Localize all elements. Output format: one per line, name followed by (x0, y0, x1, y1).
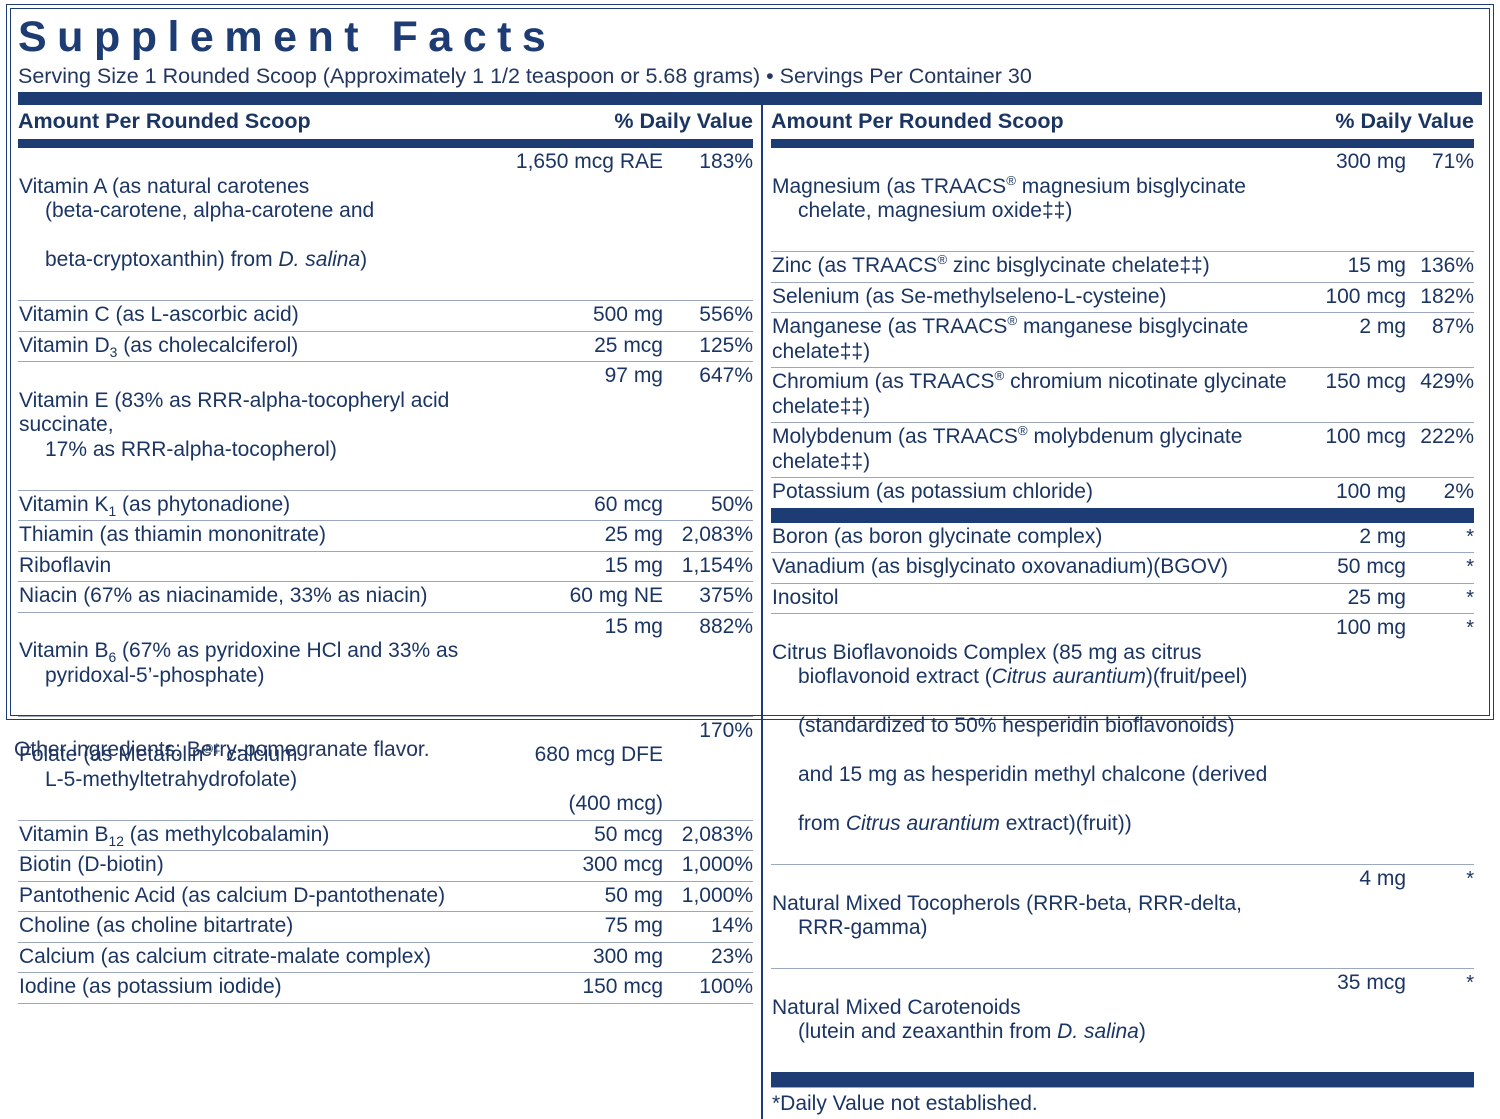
nutrient-amount: 300 mg (1300, 150, 1406, 175)
nutrient-dv: 182% (1406, 285, 1474, 310)
table-row: Vitamin B6 (67% as pyridoxine HCl and 33… (18, 612, 753, 716)
nutrient-amount: 25 mg (507, 523, 663, 548)
nutrient-name-line1: Vitamin A (as natural carotenes (19, 175, 309, 198)
section-rule-middle (771, 508, 1474, 523)
left-column: Amount Per Rounded Scoop % Daily Value V… (18, 105, 753, 1119)
label-outer-frame: Supplement Facts Serving Size 1 Rounded … (6, 4, 1494, 720)
nutrient-dv: 2,083% (663, 523, 753, 548)
nutrient-name-line4: and 15 mg as hesperidin methyl chalcone … (772, 763, 1300, 788)
name-pre: Zinc (as TRAACS (772, 254, 937, 277)
table-row: Magnesium (as TRAACS® magnesium bisglyci… (771, 148, 1474, 251)
line2-post: )(fruit/peel) (1146, 665, 1248, 688)
nutrient-dv: 375% (663, 584, 753, 609)
nutrient-dv: 23% (663, 945, 753, 970)
nutrient-amount: 4 mg (1300, 867, 1406, 892)
nutrient-name-line1: Magnesium (as TRAACS (772, 175, 1006, 198)
nutrient-amount: 100 mg (1300, 480, 1406, 505)
nutrient-dv: 882% (663, 615, 753, 640)
other-ingredients-line: Other ingredients: Berry-pomegranate fla… (14, 737, 430, 763)
table-row: Chromium (as TRAACS® chromium nicotinate… (771, 367, 1474, 422)
nutrient-name: Chromium (as TRAACS® chromium nicotinate… (771, 370, 1300, 419)
table-row: Riboflavin 15 mg 1,154% (18, 551, 753, 582)
table-row: Potassium (as potassium chloride) 100 mg… (771, 477, 1474, 508)
table-row: Zinc (as TRAACS® zinc bisglycinate chela… (771, 251, 1474, 282)
nutrient-dv: 1,154% (663, 554, 753, 579)
table-row: Niacin (67% as niacinamide, 33% as niaci… (18, 581, 753, 612)
nutrient-dv: 125% (663, 334, 753, 359)
nutrient-name: Vitamin B6 (67% as pyridoxine HCl and 33… (18, 615, 507, 713)
label-inner-frame: Supplement Facts Serving Size 1 Rounded … (10, 8, 1490, 716)
table-row: Vitamin C (as L-ascorbic acid) 500 mg 55… (18, 300, 753, 331)
line5-italic: Citrus aurantium (846, 812, 1000, 835)
table-row: Manganese (as TRAACS® manganese bisglyci… (771, 312, 1474, 367)
nutrient-name: Thiamin (as thiamin mononitrate) (18, 523, 507, 548)
right-column-header: Amount Per Rounded Scoop % Daily Value (771, 105, 1474, 139)
name-superscript: ® (937, 252, 947, 267)
line5-pre: from (798, 812, 846, 835)
name-post: (as phytonadione) (116, 493, 290, 516)
nutrient-name: Vitamin C (as L-ascorbic acid) (18, 303, 507, 328)
section-rule-bottom (771, 1072, 1474, 1087)
nutrient-amount: 15 mg (507, 615, 663, 640)
nutrient-amount: 50 mcg (507, 823, 663, 848)
nutrient-name: Choline (as choline bitartrate) (18, 914, 507, 939)
table-row: Thiamin (as thiamin mononitrate) 25 mg 2… (18, 520, 753, 551)
name-pre: Vitamin D (19, 334, 110, 357)
nutrient-amount: 2 mg (1300, 525, 1406, 550)
nutrient-dv: 71% (1406, 150, 1474, 175)
nutrient-dv: 1,000% (663, 884, 753, 909)
nutrient-name-line1: Citrus Bioflavonoids Complex (85 mg as c… (772, 641, 1202, 664)
page-title: Supplement Facts (18, 9, 1482, 63)
table-row: Vitamin E (83% as RRR-alpha-tocopheryl a… (18, 361, 753, 490)
nutrient-amount: 300 mg (507, 945, 663, 970)
header-rule-top (18, 92, 1482, 105)
nutrient-name: Riboflavin (18, 554, 507, 579)
line2-italic: Citrus aurantium (992, 665, 1146, 688)
nutrient-name-line2: (beta-carotene, alpha-carotene and (19, 199, 507, 224)
nutrient-dv: 2,083% (663, 823, 753, 848)
right-header-dv-label: % Daily Value (1335, 111, 1474, 132)
table-row: Calcium (as calcium citrate-malate compl… (18, 942, 753, 973)
name-line1-post: magnesium bisglycinate (1016, 175, 1246, 198)
nutrient-name: Vanadium (as bisglycinato oxovanadium)(B… (771, 555, 1300, 580)
nutrient-amount: 97 mg (507, 364, 663, 389)
line3-pre: beta-cryptoxanthin) from (45, 248, 278, 271)
nutrient-dv: 222% (1406, 425, 1474, 450)
name-pre: Chromium (as TRAACS (772, 370, 995, 393)
left-header-amount-label: Amount Per Rounded Scoop (18, 111, 311, 132)
nutrient-amount: 2 mg (1300, 315, 1406, 340)
nutrient-name-line1: Natural Mixed Carotenoids (772, 996, 1021, 1019)
table-row: Inositol 25 mg * (771, 583, 1474, 614)
nutrient-amount: 15 mg (1300, 254, 1406, 279)
line2-pre: bioflavonoid extract ( (798, 665, 992, 688)
nutrient-name: Natural Mixed Carotenoids (lutein and ze… (771, 971, 1300, 1069)
table-row: Choline (as choline bitartrate) 75 mg 14… (18, 911, 753, 942)
name-post: zinc bisglycinate chelate‡‡) (947, 254, 1210, 277)
table-row: Molybdenum (as TRAACS® molybdenum glycin… (771, 422, 1474, 477)
table-row: Biotin (D-biotin) 300 mcg 1,000% (18, 850, 753, 881)
nutrient-name: Zinc (as TRAACS® zinc bisglycinate chela… (771, 254, 1300, 279)
table-row: Iodine (as potassium iodide) 150 mcg 100… (18, 972, 753, 1003)
nutrient-name: Boron (as boron glycinate complex) (771, 525, 1300, 550)
supplement-facts-label: Supplement Facts Serving Size 1 Rounded … (0, 0, 1500, 769)
nutrient-name: Potassium (as potassium chloride) (771, 480, 1300, 505)
nutrient-amount: 50 mg (507, 884, 663, 909)
left-column-header: Amount Per Rounded Scoop % Daily Value (18, 105, 753, 139)
nutrient-name: Vitamin B12 (as methylcobalamin) (18, 823, 507, 848)
nutrient-amount: 680 mcg DFE (400 mcg) (507, 719, 663, 817)
name-subscript: 12 (109, 833, 124, 849)
right-header-rule (771, 139, 1474, 148)
nutrient-name-line2: 17% as RRR-alpha-tocopherol) (19, 438, 507, 463)
nutrient-amount: 500 mg (507, 303, 663, 328)
nutrient-amount: 100 mcg (1300, 285, 1406, 310)
nutrient-amount: 50 mcg (1300, 555, 1406, 580)
nutrient-name-line2: bioflavonoid extract (Citrus aurantium)(… (772, 665, 1300, 690)
nutrient-name-line3: beta-cryptoxanthin) from D. salina) (19, 248, 507, 273)
nutrient-amount: 35 mcg (1300, 971, 1406, 996)
nutrient-dv: 1,000% (663, 853, 753, 878)
nutrient-name-line2: pyridoxal-5’-phosphate) (19, 664, 507, 689)
nutrient-amount: 150 mcg (507, 975, 663, 1000)
nutrient-dv: 14% (663, 914, 753, 939)
name-pre: Manganese (as TRAACS (772, 315, 1007, 338)
name-post: (67% as pyridoxine HCl and 33% as (116, 639, 458, 662)
table-row: Vitamin K1 (as phytonadione) 60 mcg 50% (18, 490, 753, 521)
left-header-dv-label: % Daily Value (614, 111, 753, 132)
nutrient-dv: 136% (1406, 254, 1474, 279)
nutrient-amount: 75 mg (507, 914, 663, 939)
nutrient-amount: 150 mcg (1300, 370, 1406, 395)
nutrient-name: Calcium (as calcium citrate-malate compl… (18, 945, 507, 970)
nutrient-dv: 100% (663, 975, 753, 1000)
left-header-rule (18, 139, 753, 148)
name-post: (as cholecalciferol) (117, 334, 298, 357)
nutrient-amount: 100 mg (1300, 616, 1406, 641)
nutrient-name: Manganese (as TRAACS® manganese bisglyci… (771, 315, 1300, 364)
name-pre: Molybdenum (as TRAACS (772, 425, 1018, 448)
nutrient-name: Magnesium (as TRAACS® magnesium bisglyci… (771, 150, 1300, 248)
nutrient-dv: * (1406, 867, 1474, 892)
table-row: Vitamin D3 (as cholecalciferol) 25 mcg 1… (18, 331, 753, 362)
line2-italic: D. salina (1057, 1020, 1139, 1043)
name-pre: Vitamin B (19, 639, 109, 662)
name-pre: Vitamin K (19, 493, 109, 516)
nutrient-name: Selenium (as Se-methylseleno-L-cysteine) (771, 285, 1300, 310)
table-row: Pantothenic Acid (as calcium D-pantothen… (18, 881, 753, 912)
name-superscript: ® (995, 368, 1005, 383)
nutrient-name-line3: (standardized to 50% hesperidin bioflavo… (772, 714, 1300, 739)
nutrient-dv: 647% (663, 364, 753, 389)
nutrient-name: Vitamin E (83% as RRR-alpha-tocopheryl a… (18, 364, 507, 487)
nutrient-dv: 556% (663, 303, 753, 328)
nutrient-name: Molybdenum (as TRAACS® molybdenum glycin… (771, 425, 1300, 474)
table-row: Boron (as boron glycinate complex) 2 mg … (771, 523, 1474, 553)
nutrient-name: Vitamin D3 (as cholecalciferol) (18, 334, 507, 359)
nutrient-dv: * (1406, 616, 1474, 641)
name-superscript: ® (1018, 423, 1028, 438)
columns-wrapper: Amount Per Rounded Scoop % Daily Value V… (18, 105, 1482, 1119)
line5-post: extract)(fruit)) (1000, 812, 1132, 835)
nutrient-dv: 87% (1406, 315, 1474, 340)
nutrient-dv: 429% (1406, 370, 1474, 395)
line3-italic: D. salina (278, 248, 360, 271)
left-column-bottom-spacer (18, 1003, 753, 1020)
nutrient-name: Iodine (as potassium iodide) (18, 975, 507, 1000)
nutrient-amount-line1: 680 mcg DFE (535, 743, 663, 766)
table-row: Folate (as Metafolin®‡ calcium L-5-methy… (18, 716, 753, 820)
name-pre: Vitamin B (19, 823, 109, 846)
nutrient-name-line2: chelate, magnesium oxide‡‡) (772, 199, 1300, 224)
line2-pre: (lutein and zeaxanthin from (798, 1020, 1057, 1043)
nutrient-dv: * (1406, 525, 1474, 550)
table-row: Vitamin B12 (as methylcobalamin) 50 mcg … (18, 820, 753, 851)
column-divider (761, 105, 763, 1119)
column-divider-wrapper (753, 105, 771, 1119)
nutrient-dv: 183% (663, 150, 753, 175)
footnote-daily-value: *Daily Value not established. (771, 1087, 1474, 1119)
nutrient-dv: * (1406, 971, 1474, 996)
nutrient-dv: * (1406, 555, 1474, 580)
nutrient-dv: * (1406, 586, 1474, 611)
nutrient-dv: 170% (663, 719, 753, 744)
nutrient-name: Biotin (D-biotin) (18, 853, 507, 878)
table-row: Selenium (as Se-methylseleno-L-cysteine)… (771, 282, 1474, 313)
line2-post: ) (1139, 1020, 1146, 1043)
nutrient-name: Pantothenic Acid (as calcium D-pantothen… (18, 884, 507, 909)
nutrient-amount: 60 mcg (507, 493, 663, 518)
table-row: Vitamin A (as natural carotenes (beta-ca… (18, 148, 753, 300)
nutrient-name: Vitamin A (as natural carotenes (beta-ca… (18, 150, 507, 297)
table-row: Natural Mixed Tocopherols (RRR-beta, RRR… (771, 864, 1474, 968)
nutrient-name: Vitamin K1 (as phytonadione) (18, 493, 507, 518)
right-header-amount-label: Amount Per Rounded Scoop (771, 111, 1064, 132)
nutrient-name: Niacin (67% as niacinamide, 33% as niaci… (18, 584, 507, 609)
nutrient-name-line2: RRR-gamma) (772, 916, 1300, 941)
nutrient-amount: 60 mg NE (507, 584, 663, 609)
nutrient-name: Natural Mixed Tocopherols (RRR-beta, RRR… (771, 867, 1300, 965)
nutrient-name-line2: (lutein and zeaxanthin from D. salina) (772, 1020, 1300, 1045)
name-superscript: ® (1006, 173, 1016, 188)
nutrient-dv: 50% (663, 493, 753, 518)
line3-post: ) (360, 248, 367, 271)
right-column: Amount Per Rounded Scoop % Daily Value M… (771, 105, 1474, 1119)
nutrient-amount: 100 mcg (1300, 425, 1406, 450)
table-row: Citrus Bioflavonoids Complex (85 mg as c… (771, 613, 1474, 864)
nutrient-name: Inositol (771, 586, 1300, 611)
nutrient-amount-line2: (400 mcg) (568, 792, 663, 815)
nutrient-name-line2: L-5-methyltetrahydrofolate) (19, 768, 507, 793)
nutrient-amount: 25 mcg (507, 334, 663, 359)
nutrient-name-line5: from Citrus aurantium extract)(fruit)) (772, 812, 1300, 837)
nutrient-dv: 2% (1406, 480, 1474, 505)
nutrient-amount: 1,650 mcg RAE (507, 150, 663, 175)
nutrient-name: Folate (as Metafolin®‡ calcium L-5-methy… (18, 719, 507, 817)
table-row: Natural Mixed Carotenoids (lutein and ze… (771, 968, 1474, 1072)
nutrient-name-line1: Vitamin E (83% as RRR-alpha-tocopheryl a… (19, 389, 449, 437)
name-post: (as methylcobalamin) (124, 823, 329, 846)
nutrient-name: Citrus Bioflavonoids Complex (85 mg as c… (771, 616, 1300, 861)
table-row: Vanadium (as bisglycinato oxovanadium)(B… (771, 552, 1474, 583)
nutrient-amount: 25 mg (1300, 586, 1406, 611)
nutrient-name-line1: Natural Mixed Tocopherols (RRR-beta, RRR… (772, 892, 1242, 915)
nutrient-amount: 300 mcg (507, 853, 663, 878)
name-superscript: ® (1007, 313, 1017, 328)
nutrient-amount: 15 mg (507, 554, 663, 579)
serving-size-line: Serving Size 1 Rounded Scoop (Approximat… (18, 63, 1482, 92)
